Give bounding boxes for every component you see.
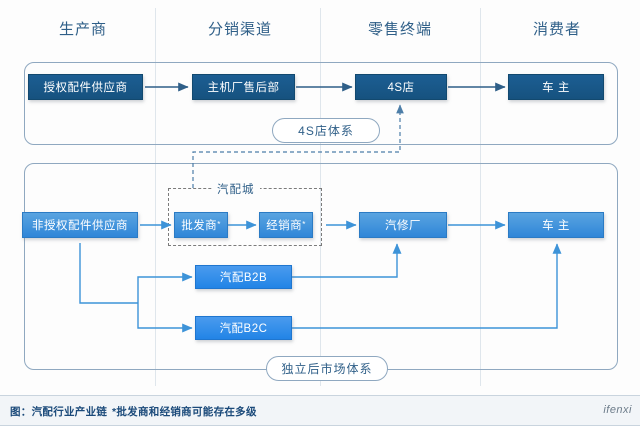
node-car-owner-independent-channel[interactable]: 车 主 <box>508 212 604 238</box>
figure-footnote: *批发商和经销商可能存在多级 <box>112 404 257 419</box>
pill-label: 4S店体系 <box>298 122 354 139</box>
node-auto-parts-b2c[interactable]: 汽配B2C <box>195 316 292 340</box>
pill-label: 独立后市场体系 <box>281 360 372 377</box>
node-label: 非授权配件供应商 <box>32 217 128 233</box>
node-4s-dealership[interactable]: 4S店 <box>355 74 447 100</box>
node-label: 4S店 <box>387 79 414 95</box>
node-label: 汽配B2C <box>220 320 268 336</box>
node-car-owner-dealer-channel[interactable]: 车 主 <box>508 74 604 100</box>
column-header-producer: 生产商 <box>18 18 148 39</box>
node-distributor[interactable]: 经销商* <box>259 212 313 238</box>
node-label: 汽配B2B <box>220 269 267 285</box>
brand-watermark: ifenxi <box>603 404 632 416</box>
node-label: 批发商 <box>181 217 217 233</box>
pill-dealer-system: 4S店体系 <box>272 118 380 143</box>
node-label: 汽修厂 <box>385 217 421 233</box>
node-label: 授权配件供应商 <box>44 79 128 95</box>
node-label: 车 主 <box>542 217 570 233</box>
figure-caption: 图：汽配行业产业链 <box>10 404 107 419</box>
node-oem-aftersales[interactable]: 主机厂售后部 <box>192 74 295 100</box>
column-header-retail: 零售终端 <box>330 18 470 39</box>
node-repair-shop[interactable]: 汽修厂 <box>359 212 447 238</box>
node-wholesaler[interactable]: 批发商* <box>174 212 228 238</box>
diagram-canvas: 生产商 分销渠道 零售终端 消费者 汽配城 <box>0 0 640 426</box>
column-header-distribution: 分销渠道 <box>170 18 310 39</box>
node-auto-parts-b2b[interactable]: 汽配B2B <box>195 265 292 289</box>
node-unauthorized-parts-supplier[interactable]: 非授权配件供应商 <box>22 212 138 238</box>
node-label: 经销商 <box>266 217 302 233</box>
auto-parts-city-label: 汽配城 <box>212 181 260 197</box>
node-label: 主机厂售后部 <box>208 79 280 95</box>
column-header-consumer: 消费者 <box>492 18 622 39</box>
pill-independent-system: 独立后市场体系 <box>266 356 388 381</box>
node-authorized-parts-supplier[interactable]: 授权配件供应商 <box>28 74 143 100</box>
node-label: 车 主 <box>542 79 570 95</box>
